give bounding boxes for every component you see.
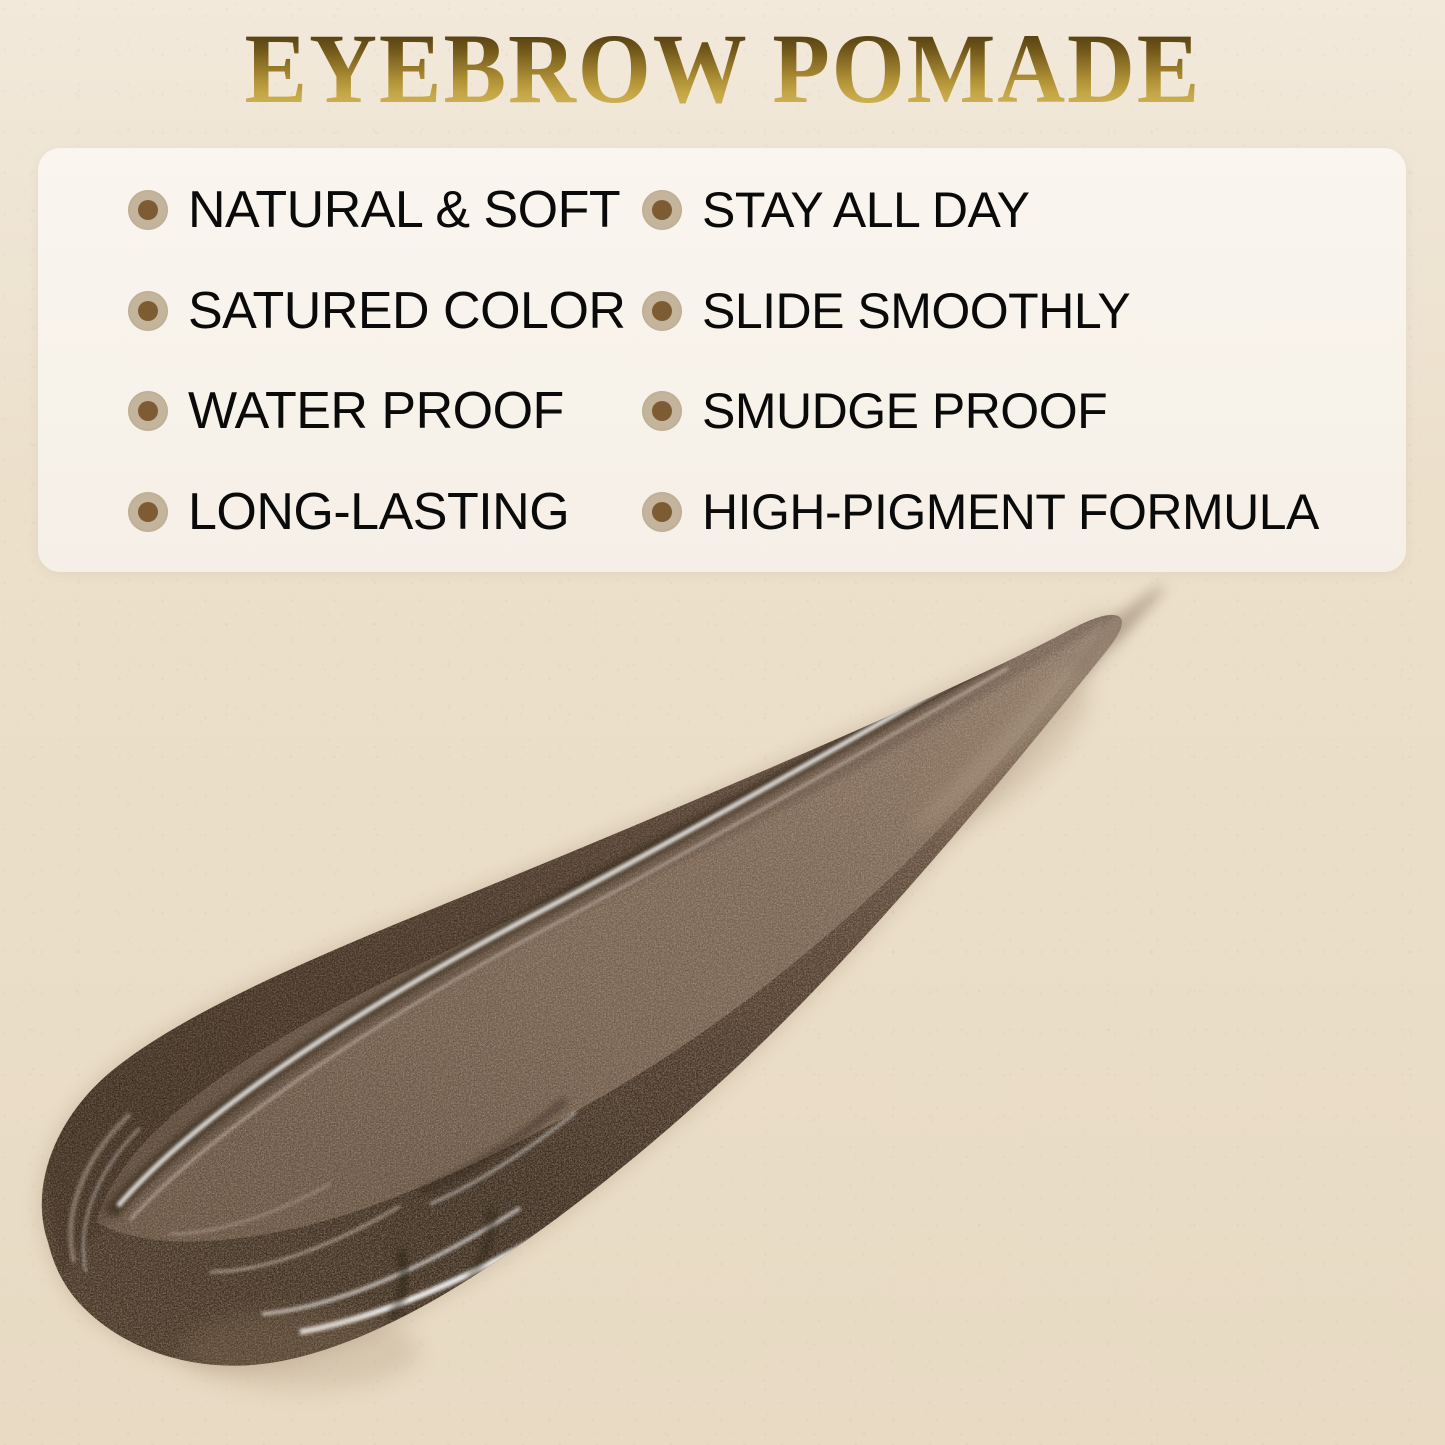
- feature-item-stay-all-day: STAY ALL DAY: [615, 185, 1406, 235]
- feature-label: WATER PROOF: [188, 385, 564, 437]
- pomade-smear-illustration: [0, 572, 1445, 1445]
- feature-label: STAY ALL DAY: [702, 185, 1030, 235]
- feature-item-natural-and-soft: NATURAL & SOFT: [38, 184, 615, 236]
- product-swatch: [0, 572, 1445, 1445]
- bullet-dot-icon: [128, 190, 168, 230]
- feature-item-satured-color: SATURED COLOR: [38, 285, 615, 337]
- page-title: EYEBROW POMADE: [244, 19, 1201, 119]
- bullet-dot-icon: [642, 492, 682, 532]
- bullet-dot-icon: [642, 291, 682, 331]
- smear-body: [0, 572, 1445, 1445]
- features-grid: NATURAL & SOFT STAY ALL DAY SATURED COLO…: [38, 148, 1406, 572]
- bullet-dot-icon: [128, 391, 168, 431]
- bullet-dot-icon: [642, 391, 682, 431]
- feature-item-high-pigment-formula: HIGH-PIGMENT FORMULA: [615, 487, 1406, 537]
- feature-label: HIGH-PIGMENT FORMULA: [702, 487, 1319, 537]
- bullet-dot-icon: [128, 291, 168, 331]
- feature-label: NATURAL & SOFT: [188, 184, 620, 236]
- header: EYEBROW POMADE: [0, 0, 1445, 138]
- feature-item-slide-smoothly: SLIDE SMOOTHLY: [615, 286, 1406, 336]
- feature-label: SMUDGE PROOF: [702, 386, 1107, 436]
- product-infographic: EYEBROW POMADE NATURAL & SOFT STAY ALL D…: [0, 0, 1445, 1445]
- bullet-dot-icon: [642, 190, 682, 230]
- feature-item-water-proof: WATER PROOF: [38, 385, 615, 437]
- feature-label: SATURED COLOR: [188, 285, 625, 337]
- feature-item-long-lasting: LONG-LASTING: [38, 486, 615, 538]
- features-card: NATURAL & SOFT STAY ALL DAY SATURED COLO…: [38, 148, 1406, 572]
- bullet-dot-icon: [128, 492, 168, 532]
- feature-label: LONG-LASTING: [188, 486, 569, 538]
- feature-label: SLIDE SMOOTHLY: [702, 286, 1130, 336]
- feature-item-smudge-proof: SMUDGE PROOF: [615, 386, 1406, 436]
